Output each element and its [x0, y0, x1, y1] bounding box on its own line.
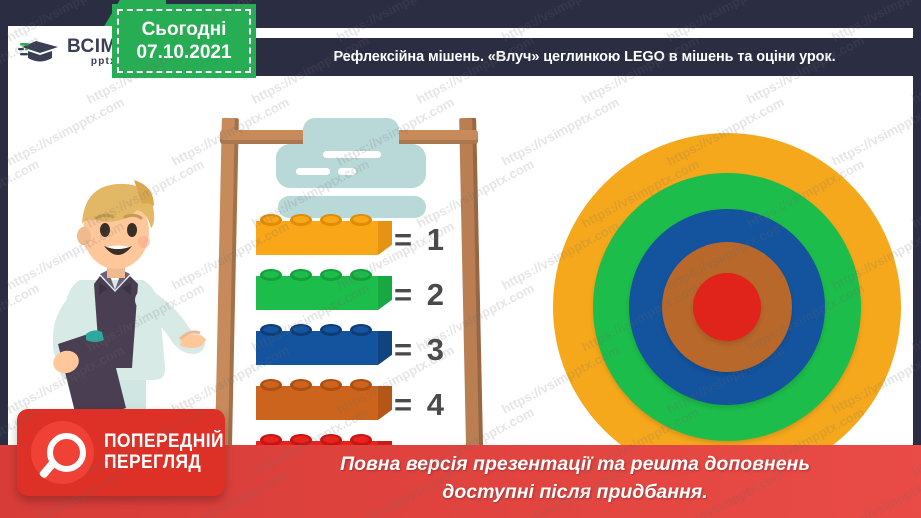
banner-message: Повна версія презентації та решта доповн…	[230, 451, 920, 506]
lego-value-label: = 1	[394, 212, 474, 267]
preview-badge[interactable]: ПОПЕРЕДНІЙ ПЕРЕГЛЯД	[17, 409, 225, 496]
lego-brick-brown[interactable]	[256, 377, 392, 420]
placeholder-line-a	[323, 151, 381, 158]
brick-studs	[260, 267, 392, 283]
target-ring-4[interactable]	[662, 242, 792, 372]
banner-line-1: Повна версія презентації та решта доповн…	[230, 451, 920, 479]
target-ring-5[interactable]	[693, 273, 761, 341]
lego-value-label: = 2	[394, 267, 474, 322]
brick-stud	[290, 324, 312, 336]
lego-brick-orange[interactable]	[256, 212, 392, 255]
target-ring-2[interactable]	[593, 173, 861, 441]
preview-badge-text: ПОПЕРЕДНІЙ ПЕРЕГЛЯД	[104, 432, 234, 473]
brick-studs	[260, 322, 392, 338]
brick-stud	[320, 214, 342, 226]
brick-stud	[290, 214, 312, 226]
placeholder-line-b	[296, 168, 330, 175]
target-ring-3[interactable]	[629, 209, 825, 405]
lego-value-label: = 3	[394, 322, 474, 377]
presentation-slide: = 1= 2= 3= 4= 5	[0, 0, 921, 518]
preview-line-1: ПОПЕРЕДНІЙ	[104, 432, 224, 453]
brick-stud	[350, 324, 372, 336]
date-badge-label: Сьогодні	[142, 18, 227, 41]
preview-line-2: ПЕРЕГЛЯД	[104, 453, 224, 474]
lego-brick-blue[interactable]	[256, 322, 392, 365]
brick-stud	[260, 379, 282, 391]
board-placeholder-shape-2	[276, 144, 426, 188]
graduation-cap-icon	[18, 37, 62, 67]
logo-title: ВСІМ	[67, 37, 117, 56]
brick-stud	[320, 379, 342, 391]
lego-value-label: = 4	[394, 377, 474, 432]
brick-stud	[260, 324, 282, 336]
lego-brick-green[interactable]	[256, 267, 392, 310]
brick-stud	[260, 214, 282, 226]
brick-stud	[350, 214, 372, 226]
magnifier-icon	[31, 421, 94, 484]
logo-wordmark: ВСІМ pptx	[67, 37, 117, 67]
target-ring-1[interactable]	[553, 133, 901, 481]
slide-title-bar: Рефлексійна мішень. «Влуч» цеглинкою LEG…	[256, 38, 913, 76]
page-title: Рефлексійна мішень. «Влуч» цеглинкою LEG…	[333, 49, 835, 65]
brick-stud	[350, 379, 372, 391]
brick-stud	[290, 269, 312, 281]
logo-subtitle: pptx	[67, 57, 117, 67]
brick-stud	[260, 269, 282, 281]
date-badge-value: 07.10.2021	[136, 41, 231, 64]
brick-studs	[260, 212, 392, 228]
banner-line-2: доступні після придбання.	[230, 479, 920, 507]
placeholder-line-c	[338, 168, 356, 175]
today-date-badge: Сьогодні 07.10.2021	[112, 4, 256, 78]
brick-stud	[350, 269, 372, 281]
brick-stud	[320, 269, 342, 281]
brick-studs	[260, 377, 392, 393]
brick-stud	[290, 379, 312, 391]
brick-stud	[320, 324, 342, 336]
brand-logo[interactable]: ВСІМ pptx	[8, 26, 118, 78]
